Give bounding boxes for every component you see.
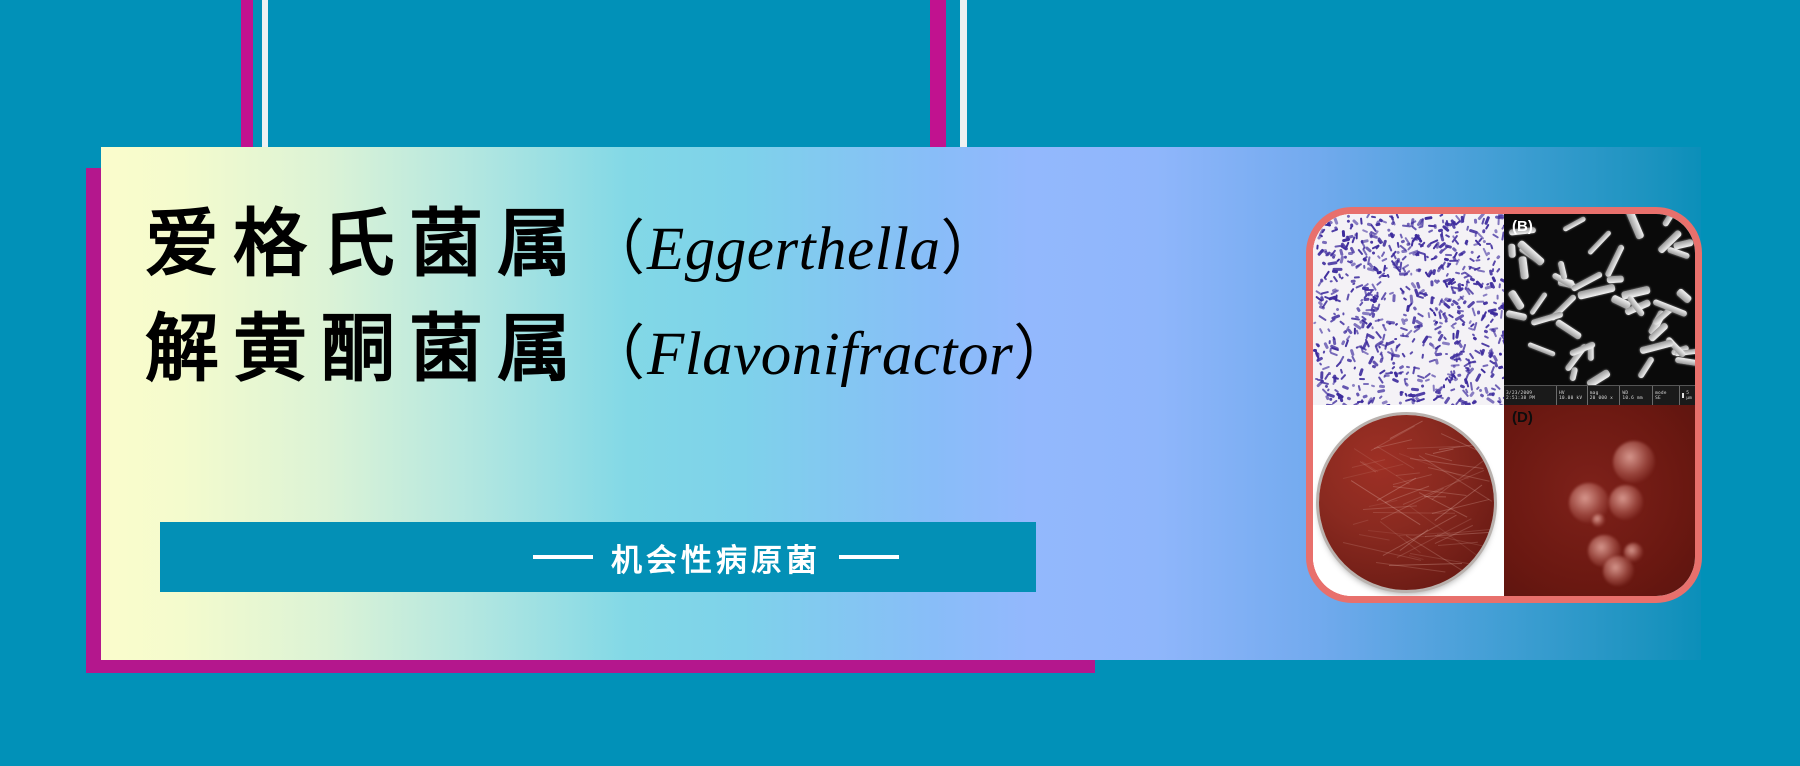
title-line-1-paren-close: ）	[941, 200, 1001, 287]
sem-scale-bar: 5 μm	[1680, 391, 1695, 401]
sem-hv-value: 10.00 kV	[1559, 396, 1585, 401]
microbiology-photo-card: (B) 3/23/2009 2:51:38 PM HV 10.00 kV mag…	[1306, 207, 1702, 603]
title-line-2-chinese: 解黄酮菌属	[145, 310, 585, 390]
subtitle-text: 机会性病原菌	[611, 535, 821, 580]
photo-panel-grid: (B) 3/23/2009 2:51:38 PM HV 10.00 kV mag…	[1313, 214, 1695, 596]
title-line-2-latin: Flavonifractor	[647, 322, 1013, 388]
sem-scale-text: 5 μm	[1686, 391, 1692, 401]
title-line-1-paren-open: （	[585, 200, 645, 287]
sem-rods	[1504, 214, 1695, 405]
sem-hv-cell: HV 10.00 kV	[1557, 386, 1588, 405]
subtitle-banner-inner: 机会性病原菌	[533, 535, 899, 580]
decor-rule-white-left	[262, 0, 268, 150]
sem-time: 2:51:38 PM	[1506, 396, 1554, 401]
title-line-2-paren-open: （	[585, 305, 645, 392]
dash-right-icon	[839, 555, 899, 559]
panel-sem: (B) 3/23/2009 2:51:38 PM HV 10.00 kV mag…	[1504, 214, 1695, 405]
sem-datetime-cell: 3/23/2009 2:51:38 PM	[1504, 386, 1557, 405]
panel-colonies: (D)	[1504, 405, 1695, 596]
dash-left-icon	[533, 555, 593, 559]
magenta-foot-bar	[86, 660, 1095, 673]
sem-mag-value: 20 000 x	[1590, 396, 1618, 401]
sem-info-bar: 3/23/2009 2:51:38 PM HV 10.00 kV mag 20 …	[1504, 385, 1695, 405]
headline-block: 爱格氏菌属 （ Eggerthella ） 解黄酮菌属 （ Flavonifra…	[145, 200, 1195, 392]
sem-wd-cell: WD 10.6 mm	[1620, 386, 1653, 405]
agar-plate	[1319, 415, 1495, 591]
title-line-1: 爱格氏菌属 （ Eggerthella ）	[145, 200, 1195, 287]
panel-d-label: (D)	[1512, 409, 1533, 426]
title-line-2-paren-close: ）	[1013, 305, 1073, 392]
title-line-1-chinese: 爱格氏菌属	[145, 205, 585, 285]
title-line-1-latin: Eggerthella	[647, 217, 941, 283]
panel-agar-plate	[1313, 405, 1504, 596]
sem-wd-value: 10.6 mm	[1622, 396, 1650, 401]
sem-mode-cell: mode SE	[1653, 386, 1680, 405]
colony-cluster	[1504, 405, 1695, 596]
subtitle-banner: 机会性病原菌	[160, 522, 1036, 592]
panel-b-label: (B)	[1512, 218, 1533, 235]
sem-mode-value: SE	[1655, 396, 1677, 401]
banner-canvas: 爱格氏菌属 （ Eggerthella ） 解黄酮菌属 （ Flavonifra…	[0, 0, 1800, 766]
sem-mag-cell: mag 20 000 x	[1588, 386, 1621, 405]
panel-gram-stain	[1313, 214, 1504, 405]
gram-stain-rods	[1313, 214, 1504, 405]
title-line-2: 解黄酮菌属 （ Flavonifractor ）	[145, 305, 1195, 392]
